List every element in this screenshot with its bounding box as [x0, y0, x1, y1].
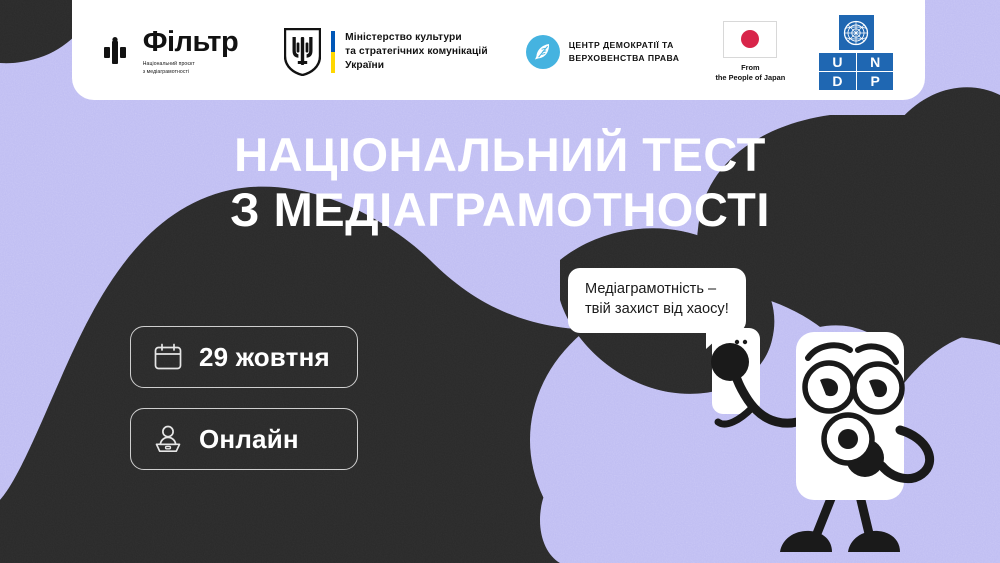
ministry-line2: та стратегічних комунікацій — [345, 45, 488, 59]
logo-row: Фільтр Національний проєкт з медіаграмот… — [90, 10, 908, 94]
japan-flag-icon — [723, 21, 777, 58]
logo-cedem[interactable]: ЦЕНТР ДЕМОКРАТІЇ ТА ВЕРХОВЕНСТВА ПРАВА — [508, 35, 698, 69]
pill-date[interactable]: 29 жовтня — [130, 326, 358, 388]
undp-letters: U N D P — [819, 53, 893, 90]
logo-ministry-of-culture[interactable]: Міністерство культури та стратегічних ко… — [264, 28, 508, 76]
page-title-line2: з медіаграмотності — [0, 183, 1000, 238]
partner-logos-card: Фільтр Національний проєкт з медіаграмот… — [72, 0, 925, 100]
cedem-line2: ВЕРХОВЕНСТВА ПРАВА — [569, 52, 680, 65]
mascot-left-eye — [805, 363, 853, 411]
japan-caption-line1: From — [715, 63, 785, 73]
mascot-left-hand — [711, 343, 749, 381]
un-emblem-icon — [838, 14, 875, 51]
mascot-right-foot — [848, 531, 900, 552]
pill-date-label: 29 жовтня — [199, 342, 330, 373]
filtr-subtitle-line2: з медіаграмотності — [143, 69, 195, 76]
ministry-line3: України — [345, 59, 488, 73]
undp-stack: U N D P — [819, 14, 893, 90]
ministry-name: Міністерство культури та стратегічних ко… — [345, 31, 488, 73]
filtr-wordmark-group: Фільтр Національний проєкт з медіаграмот… — [143, 28, 238, 76]
logo-undp[interactable]: U N D P — [803, 14, 907, 90]
pill-format-label: Онлайн — [199, 424, 299, 455]
mascot-left-foot — [780, 531, 832, 552]
filtr-mascot — [660, 300, 960, 563]
undp-letter-d: D — [819, 72, 855, 90]
filtr-mark-icon — [104, 37, 134, 67]
undp-letter-p: P — [857, 72, 893, 90]
filtr-subtitle-line1: Національний проєкт — [143, 61, 195, 68]
mascot-third-eye — [824, 415, 872, 463]
logo-filtr[interactable]: Фільтр Національний проєкт з медіаграмот… — [90, 28, 264, 76]
cedem-badge — [526, 35, 560, 69]
event-info-pills: 29 жовтня Онлайн — [130, 326, 358, 470]
quill-feather-icon — [532, 41, 554, 63]
filtr-subtitle: Національний проєкт з медіаграмотності — [143, 61, 195, 76]
filtr-wordmark: Фільтр — [143, 28, 238, 57]
cedem-line1: ЦЕНТР ДЕМОКРАТІЇ ТА — [569, 39, 680, 52]
mascot-right-eye — [854, 364, 902, 412]
person-laptop-icon — [153, 424, 183, 454]
japan-flag-sun — [741, 30, 759, 48]
japan-caption: From the People of Japan — [715, 63, 785, 84]
japan-caption-line2: the People of Japan — [715, 73, 785, 83]
ukraine-trident-shield-icon — [284, 28, 321, 76]
page-title-line1: Національний тест — [234, 128, 766, 181]
page-title: Національний тест з медіаграмотності — [0, 128, 1000, 238]
calendar-icon — [153, 342, 183, 372]
cedem-name: ЦЕНТР ДЕМОКРАТІЇ ТА ВЕРХОВЕНСТВА ПРАВА — [569, 39, 680, 65]
ministry-line1: Міністерство культури — [345, 31, 488, 45]
logo-japan[interactable]: From the People of Japan — [697, 21, 803, 84]
undp-letter-n: N — [857, 53, 893, 71]
undp-letter-u: U — [819, 53, 855, 71]
pill-format[interactable]: Онлайн — [130, 408, 358, 470]
ukraine-flag-bar-icon — [331, 31, 335, 73]
poster-canvas: Фільтр Національний проєкт з медіаграмот… — [0, 0, 1000, 563]
speech-bubble-line1: Медіаграмотність – — [585, 280, 729, 300]
